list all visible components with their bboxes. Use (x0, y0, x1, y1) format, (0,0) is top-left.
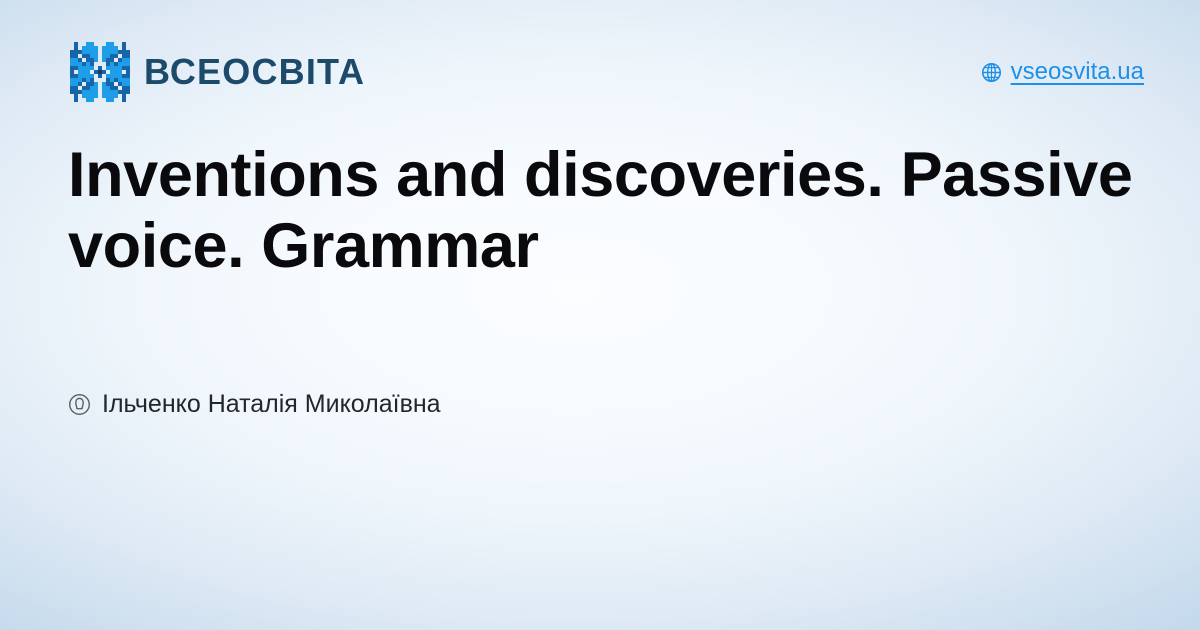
brand-logo[interactable]: ВСЕОСВІТА (70, 42, 365, 102)
card-header: ВСЕОСВІТА vseosvita.ua (70, 40, 1144, 104)
share-card: ВСЕОСВІТА vseosvita.ua Inventions and di… (0, 0, 1200, 630)
author-name: Ільченко Наталія Миколаївна (102, 392, 441, 417)
author-byline: Ільченко Наталія Миколаївна (68, 392, 441, 417)
brand-name: ВСЕОСВІТА (144, 54, 365, 90)
pixel-snowflake-icon (70, 42, 130, 102)
user-circle-icon (68, 393, 91, 416)
globe-icon (981, 62, 1002, 83)
site-link-text[interactable]: vseosvita.ua (1011, 60, 1144, 84)
site-link[interactable]: vseosvita.ua (981, 60, 1144, 84)
page-title: Inventions and discoveries. Passive voic… (68, 140, 1140, 281)
